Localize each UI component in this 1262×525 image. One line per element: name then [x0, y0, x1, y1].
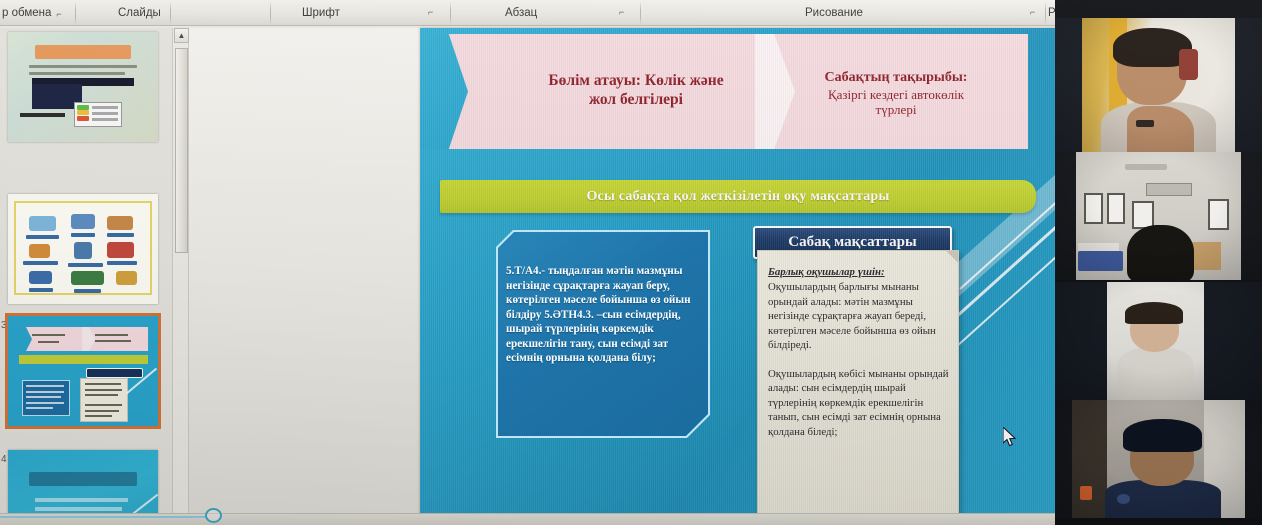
slide-thumbnail-3[interactable] — [8, 316, 158, 426]
clipboard-dialog-launcher-icon[interactable]: ⌐ — [56, 9, 60, 19]
powerpoint-window: р обмена ⌐ Слайды Шрифт ⌐ Абзац ⌐ Рисова… — [0, 0, 1262, 525]
video-tile-participant-1[interactable] — [1055, 18, 1262, 158]
folded-corner-icon — [946, 251, 958, 263]
current-slide-canvas[interactable]: Бөлім атауы: Көлік және жол белгілері Са… — [420, 28, 1058, 515]
ribbon-group-paragraph-label: Абзац — [505, 7, 537, 19]
scrollbar-thumb[interactable] — [175, 48, 188, 253]
differentiation-note-paragraph-1: Оқушылардың барлығы мынаны орындай алады… — [768, 280, 950, 352]
thumbnail-number-3: 3 — [1, 320, 7, 331]
lesson-topic-text: Сабақтың тақырыбы: Қазіргі кездегі авток… — [792, 70, 1000, 118]
status-indicator-icon — [205, 508, 222, 523]
thumbnail-row-4[interactable]: 4 — [0, 428, 172, 525]
ribbon-group-drawing[interactable]: Рисование — [805, 3, 863, 23]
ribbon-group-font[interactable]: Шрифт — [302, 3, 340, 23]
ribbon-group-clipboard[interactable]: р обмена ⌐ — [2, 3, 61, 23]
differentiation-note-text: Барлық оқушылар үшін: Оқушылардың барлығ… — [768, 265, 950, 439]
font-dialog-launcher-icon[interactable]: ⌐ — [428, 7, 432, 17]
slide-thumbnail-2[interactable] — [8, 194, 158, 304]
thumbnail-row-3[interactable]: 3 — [0, 290, 172, 408]
ribbon-group-clipboard-label: р обмена — [2, 7, 51, 19]
ribbon-group-font-label: Шрифт — [302, 7, 340, 19]
differentiation-note-lead: Барлық оқушылар үшін: — [768, 265, 950, 279]
note-spacer — [768, 353, 950, 367]
status-bar-accent-line — [0, 516, 205, 518]
drawing-dialog-launcher-icon[interactable]: ⌐ — [1030, 7, 1034, 17]
learning-goals-banner-text: Осы сабақта қол жеткізілетін оқу мақсатт… — [586, 189, 889, 205]
thumbnail-pane-scrollbar[interactable]: ▲ — [172, 28, 189, 525]
section-title-line2: жол белгілері — [589, 91, 683, 108]
ribbon-group-slides[interactable]: Слайды — [118, 3, 161, 23]
thumbnail-row-1[interactable] — [0, 30, 172, 148]
paragraph-dialog-launcher-icon[interactable]: ⌐ — [619, 7, 623, 17]
ribbon-group-paragraph[interactable]: Абзац — [505, 3, 537, 23]
lesson-topic-line3: түрлері — [792, 102, 1000, 118]
scroll-up-arrow-icon[interactable]: ▲ — [174, 28, 189, 43]
thumbnail-number-4: 4 — [1, 454, 7, 465]
section-title-line1: Бөлім атауы: Көлік және — [548, 72, 723, 89]
lesson-topic-heading: Сабақтың тақырыбы: — [792, 70, 1000, 87]
slide-thumbnail-pane[interactable]: 3 — [0, 28, 172, 525]
video-conference-panel[interactable] — [1055, 0, 1262, 525]
lesson-topic-line2: Қазіргі кездегі автокөлік — [792, 87, 1000, 103]
objectives-box-text: 5.Т/А4.- тыңдалған мәтін мазмұны негізін… — [506, 264, 698, 366]
thumbnail-row-2[interactable] — [0, 138, 172, 256]
video-tile-participant-4[interactable] — [1055, 400, 1262, 518]
section-title-text: Бөлім атауы: Көлік және жол белгілері — [516, 72, 756, 109]
learning-goals-banner: Осы сабақта қол жеткізілетін оқу мақсатт… — [440, 180, 1036, 213]
video-tile-participant-2[interactable] — [1055, 152, 1262, 280]
lesson-objectives-title-text: Сабақ мақсаттары — [788, 234, 916, 251]
differentiation-note-paragraph-2: Оқушылардың көбісі мынаны орындай алады:… — [768, 367, 950, 439]
slide-thumbnail-1[interactable] — [8, 32, 158, 142]
video-tile-participant-3[interactable] — [1055, 282, 1262, 402]
ribbon-group-drawing-label: Рисование — [805, 7, 863, 19]
arrow-cursor-icon — [1003, 427, 1017, 447]
ribbon-group-slides-label: Слайды — [118, 7, 161, 19]
